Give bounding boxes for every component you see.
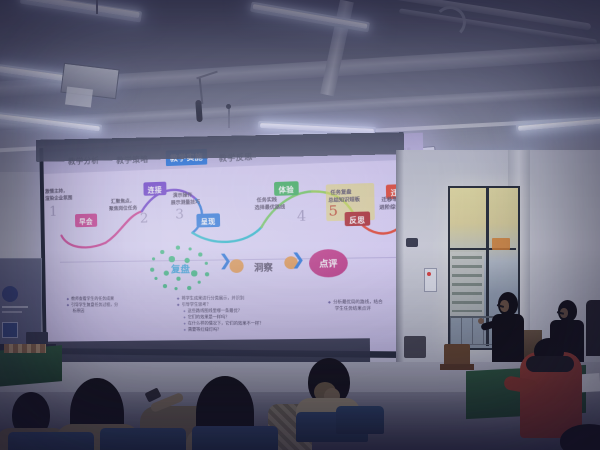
flow-node-review: 点评 [309,249,348,278]
step-5-caption-line1: 任务复盘 [330,190,351,197]
chair-foreground-2 [100,428,186,450]
step-4-number: 4 [297,209,307,225]
chair-back-left [404,336,426,358]
bullet-group-1: 教师查看学生的任务成果 引导学生复盘任务过程，分 析原因 [66,295,164,314]
bullet-1-2: 析原因 [73,308,165,314]
step-3-number: 3 [175,207,184,223]
step-5-number: 5 [328,204,338,220]
attendee-far-right-body [586,300,600,356]
wooden-chair-seat [440,364,474,370]
step-3-chip: 呈现 [196,213,220,227]
light-suspension-rod [96,0,98,14]
wall-poster-circular-logo [2,286,18,302]
wall-alarm-device[interactable] [406,238,418,247]
step-5-chip: 反思 [345,211,370,226]
overhead-equipment-panel [65,86,93,107]
slide-surface: 教学分析 教学策略 教学实施 教学反思 教育技术应用 [42,133,427,354]
wall-poster-text-line-2 [2,311,22,313]
window-view-building-windows [452,256,482,312]
projection-screen-area: 教学分析 教学策略 教学实施 教学反思 教育技术应用 [42,133,427,354]
step-1-caption-line2: 渲染企业氛围 [45,196,72,203]
wall-switch-panel[interactable] [424,268,437,292]
wall-poster-text-line [2,306,28,308]
step-1-chip: 早会 [75,214,97,228]
bullet-2-5: 需要等红绿灯吗？ [184,326,313,333]
wall-corner-shadow [396,150,404,380]
step-2-caption-line1: 汇聚焦点， [111,199,135,206]
step-2-caption-line2: 聚焦岗位任务 [109,206,137,213]
flow-node-insight: 洞察 [247,259,280,276]
step-1-number: 1 [49,205,57,220]
step-2-number: 2 [140,211,149,227]
step-4-chip: 体验 [274,181,299,196]
wall-rod [228,106,230,128]
chair-foreground-5 [336,406,384,434]
window-view-signboard [492,238,510,250]
chair-foreground-3 [192,426,278,450]
wall-rod-tip [226,104,231,109]
classroom-photo: 教学分析 教学策略 教学实施 教学反思 教育技术应用 [0,0,600,450]
step-3-caption-line1: 演示操作 [173,193,193,200]
wall-equipment-small [26,332,48,344]
flow-chevron-2-icon: ❯ [291,252,305,268]
presenter-hand [478,318,484,324]
bullet-group-2: 将学生成果进行分类展示，并识别 引导学生思考？ 这些路线图线里哪一条最优？ 它们… [177,295,313,333]
wall-switch-indicator [427,272,431,276]
chair-foreground-1 [8,432,94,450]
step-2-chip: 连接 [143,182,166,196]
side-table-items [4,344,46,353]
step-4-caption-line1: 任务实践 [257,198,277,205]
projection-screen: 教学分析 教学策略 教学实施 教学反思 教育技术应用 [42,133,427,354]
wall-poster-badge [2,322,18,338]
ceiling-conduit-curve [434,6,466,38]
flow-chevron-1-icon: ❯ [218,253,232,269]
step-1-caption-line1: 激情主持， [45,189,68,196]
step-4-caption-line2: 选择最优路线 [255,205,286,212]
flow-node-rework: 复盘 [161,258,199,279]
attendee-red-jacket-hood [526,356,574,372]
